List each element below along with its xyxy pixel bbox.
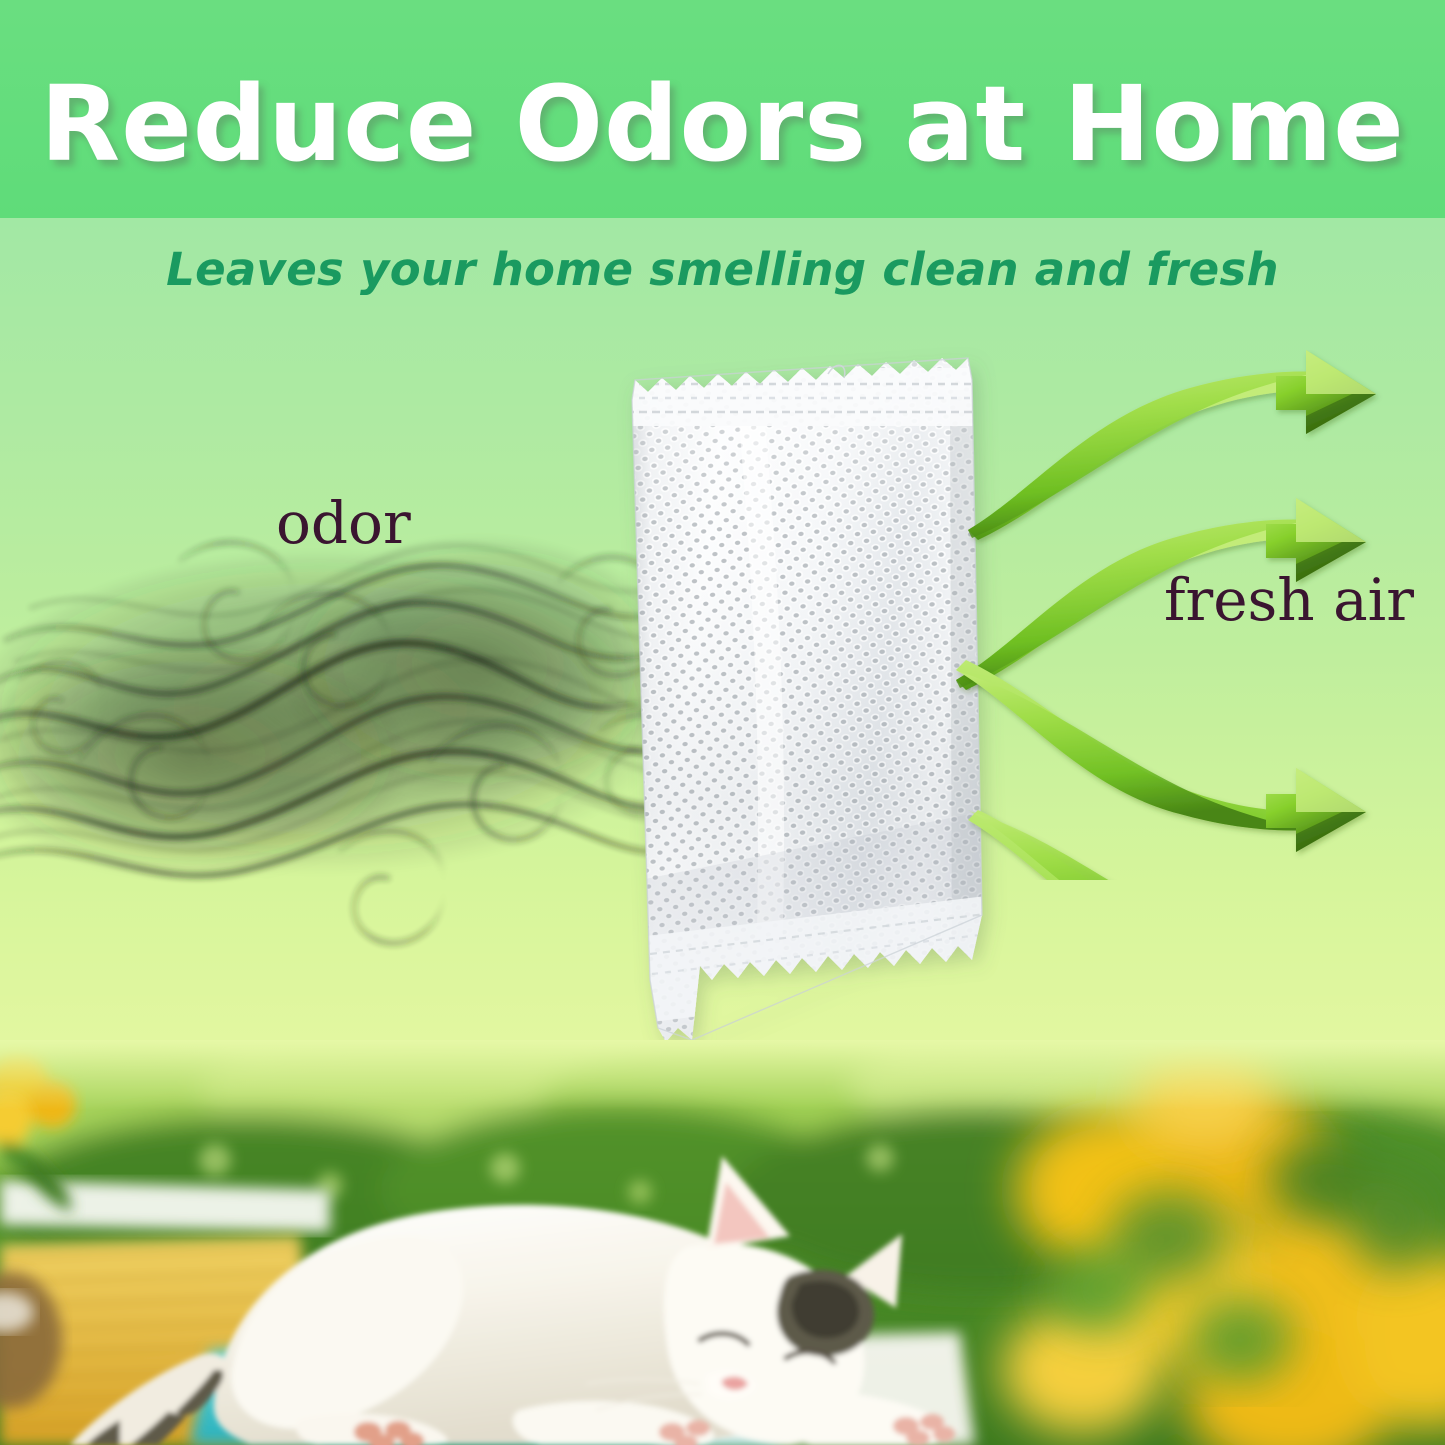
page-title: Reduce Odors at Home xyxy=(0,72,1445,176)
arrow-3 xyxy=(956,660,1366,852)
page-subtitle: Leaves your home smelling clean and fres… xyxy=(0,243,1445,296)
sleeping-cat-photo xyxy=(0,1040,1445,1445)
odor-label: odor xyxy=(276,489,411,557)
promo-image-canvas: Reduce Odors at Home Leaves your home sm… xyxy=(0,0,1445,1445)
fresh-air-label: fresh air xyxy=(1164,566,1414,634)
